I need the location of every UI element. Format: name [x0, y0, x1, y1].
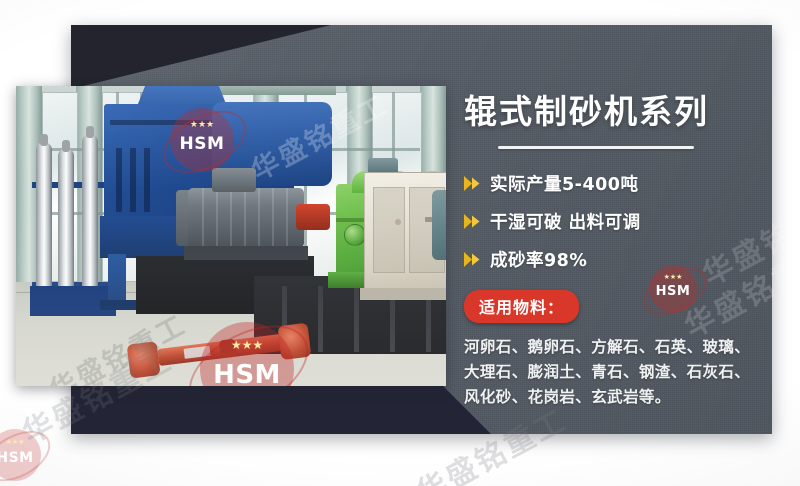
- chevron-right-icon: [464, 176, 481, 191]
- feature-list: 实际产量5-400吨 干湿可破 出料可调 成砂率98%: [464, 164, 760, 278]
- title-divider: [498, 146, 694, 149]
- list-item: 实际产量5-400吨: [464, 164, 760, 202]
- status-badge: 适用物料：: [464, 290, 579, 323]
- list-item: 成砂率98%: [464, 240, 760, 278]
- list-item-label: 实际产量5-400吨: [490, 171, 638, 196]
- photo-haze: [16, 86, 446, 386]
- list-item-label: 成砂率98%: [490, 247, 587, 272]
- page-title: 辊式制砂机系列: [464, 92, 760, 132]
- copy-block: 辊式制砂机系列 实际产量5-400吨 干湿可破 出料可调 成砂率98%: [464, 92, 760, 411]
- chevron-right-icon: [464, 214, 481, 229]
- banner-canvas: ★★★ HSM ★★★ HSM 华盛铭重工 华盛铭重工 辊式制砂机系列 实际产量…: [0, 0, 800, 486]
- chevron-right-icon: [464, 252, 481, 267]
- materials-text: 河卵石、鹅卵石、方解石、石英、玻璃、大理石、膨润土、青石、钢渣、石灰石、风化砂、…: [464, 335, 756, 410]
- list-item: 干湿可破 出料可调: [464, 202, 760, 240]
- list-item-label: 干湿可破 出料可调: [490, 209, 641, 234]
- product-photo: ★★★ HSM ★★★ HSM 华盛铭重工 华盛铭重工: [16, 86, 446, 386]
- panel-bottom-band: [71, 382, 491, 434]
